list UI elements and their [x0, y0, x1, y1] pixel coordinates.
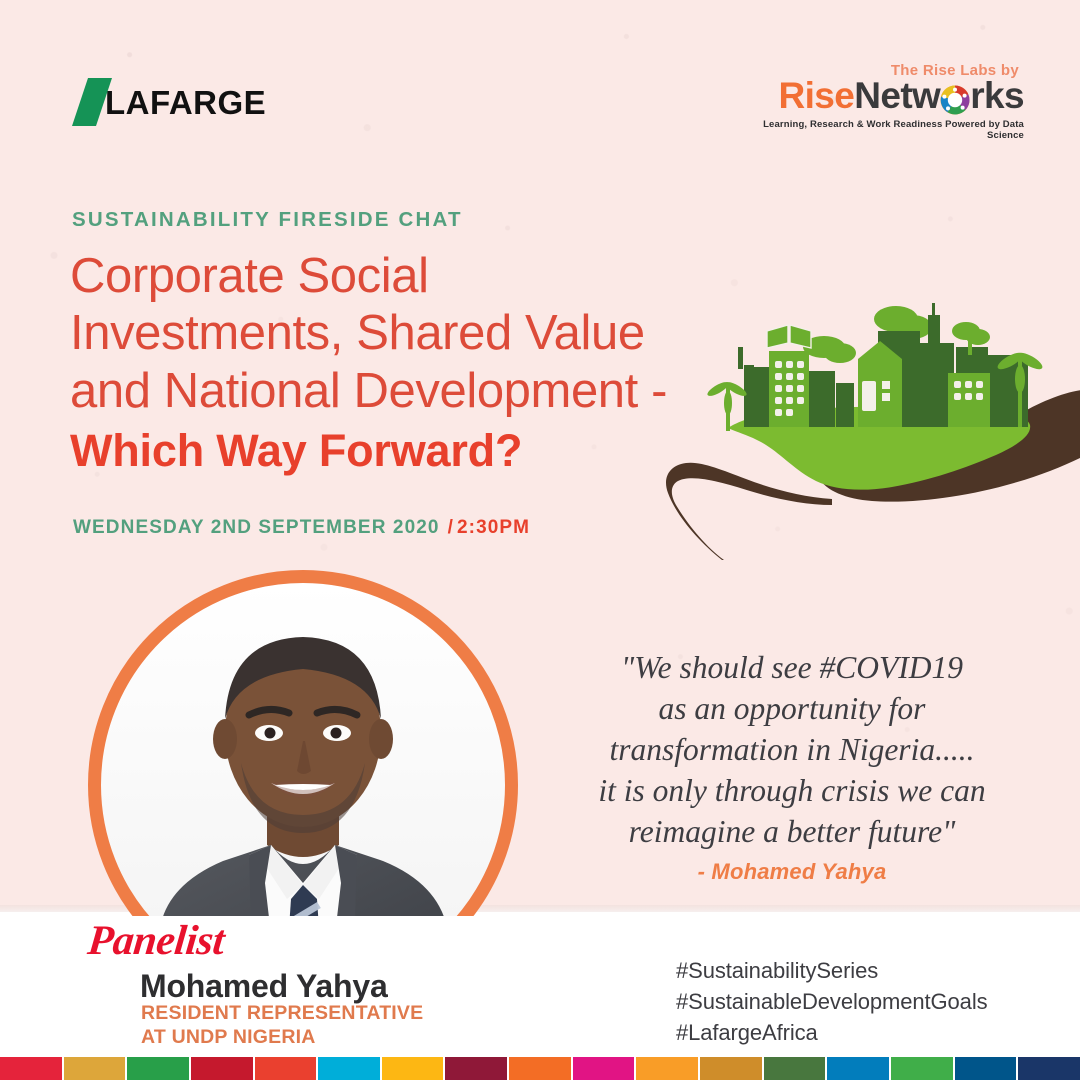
- sdg-colour-segment: [255, 1057, 319, 1080]
- quote-line-5: reimagine a better future": [528, 812, 1056, 853]
- sdg-colour-segment: [764, 1057, 828, 1080]
- sdg-colour-segment: [318, 1057, 382, 1080]
- hashtag-item: #SustainableDevelopmentGoals: [676, 986, 988, 1017]
- rks-word: rks: [970, 77, 1024, 116]
- quote-line-1: "We should see #COVID19: [528, 648, 1056, 689]
- sdg-colour-segment: [636, 1057, 700, 1080]
- quote-attribution: - Mohamed Yahya: [528, 859, 1056, 885]
- title-line-1: Corporate Social: [70, 248, 710, 305]
- panelist-role-line-1: RESIDENT REPRESENTATIVE: [141, 1002, 423, 1026]
- rise-networks-orb-icon: [940, 84, 970, 114]
- lafarge-l-mark-icon: [72, 78, 118, 126]
- hashtag-item: #SustainabilitySeries: [676, 955, 988, 986]
- netw-word: Netw: [854, 77, 940, 116]
- title-line-3: and National Development -: [70, 363, 710, 420]
- datetime-separator: /: [448, 517, 454, 538]
- sdg-colour-segment: [127, 1057, 191, 1080]
- event-datetime: WEDNESDAY 2ND SEPTEMBER 2020/2:30PM: [73, 517, 530, 539]
- sdg-colour-segment: [1018, 1057, 1080, 1080]
- quote-block: "We should see #COVID19 as an opportunit…: [528, 648, 1056, 885]
- panelist-badge: Panelist: [85, 917, 226, 965]
- sdg-colour-segment: [891, 1057, 955, 1080]
- risenetworks-logo: The Rise Labs by RiseNetw rks: [754, 62, 1024, 141]
- risenetworks-subtitle: Learning, Research & Work Readiness Powe…: [754, 119, 1024, 141]
- sdg-colour-segment: [827, 1057, 891, 1080]
- risenetworks-wordmark: RiseNetw rks: [754, 77, 1024, 116]
- hand-holding-green-city-icon: [666, 285, 1080, 560]
- sdg-colour-segment: [573, 1057, 637, 1080]
- sdg-colour-segment: [64, 1057, 128, 1080]
- panelist-name: Mohamed Yahya: [140, 968, 388, 1005]
- title-emphasis: Which Way Forward?: [70, 424, 710, 478]
- event-eyebrow: SUSTAINABILITY FIRESIDE CHAT: [72, 208, 463, 232]
- panelist-card-notch: [355, 916, 495, 976]
- hashtag-list: #SustainabilitySeries #SustainableDevelo…: [676, 955, 988, 1048]
- title-line-2: Investments, Shared Value: [70, 305, 710, 362]
- quote-line-4: it is only through crisis we can: [528, 771, 1056, 812]
- lafarge-wordmark: LAFARGE: [105, 86, 266, 119]
- panelist-role-line-2: AT UNDP NIGERIA: [141, 1026, 423, 1050]
- event-title: Corporate Social Investments, Shared Val…: [70, 248, 710, 478]
- quote-line-2: as an opportunity for: [528, 689, 1056, 730]
- hashtag-item: #LafargeAfrica: [676, 1017, 988, 1048]
- sdg-colour-segment: [382, 1057, 446, 1080]
- sdg-colour-segment: [191, 1057, 255, 1080]
- sdg-colour-segment: [509, 1057, 573, 1080]
- sdg-colour-segment: [0, 1057, 64, 1080]
- quote-line-3: transformation in Nigeria.....: [528, 730, 1056, 771]
- event-date: WEDNESDAY 2ND SEPTEMBER 2020: [73, 517, 440, 538]
- lafarge-logo: LAFARGE: [72, 78, 266, 126]
- sdg-colour-bar: [0, 1057, 1080, 1080]
- sdg-colour-segment: [700, 1057, 764, 1080]
- panelist-role: RESIDENT REPRESENTATIVE AT UNDP NIGERIA: [141, 1002, 423, 1050]
- sdg-colour-segment: [955, 1057, 1019, 1080]
- rise-word: Rise: [778, 77, 854, 116]
- event-time: 2:30PM: [457, 517, 530, 538]
- sdg-colour-segment: [445, 1057, 509, 1080]
- event-poster: LAFARGE The Rise Labs by RiseNetw: [0, 0, 1080, 1080]
